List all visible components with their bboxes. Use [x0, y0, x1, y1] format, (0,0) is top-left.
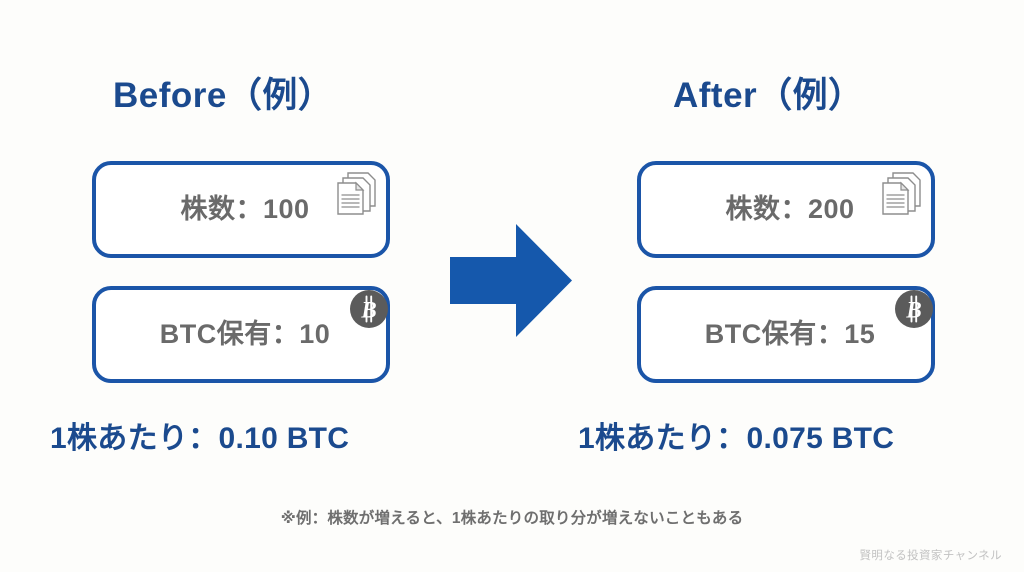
per-share-before: 1株あたり：0.10 BTC	[50, 424, 349, 454]
card-shares-after-label: 株数：200	[725, 196, 854, 223]
card-btc-after: BTC保有：15 B	[637, 286, 935, 383]
documents-stack-icon	[879, 171, 923, 217]
slide-canvas: Before（例） 株数：100 BTC保有：10	[0, 0, 1024, 572]
channel-watermark: 賢明なる投資家チャンネル	[860, 551, 1002, 563]
card-shares-before: 株数：100	[92, 161, 390, 258]
footnote-text: ※例：株数が増えると、1株あたりの取り分が増えないこともある	[0, 511, 1024, 527]
column-heading-before: Before（例）	[113, 78, 333, 113]
bitcoin-coin-icon: B	[893, 288, 935, 330]
card-btc-before: BTC保有：10 B	[92, 286, 390, 383]
bitcoin-coin-icon: B	[348, 288, 390, 330]
svg-text:B: B	[360, 298, 376, 323]
card-btc-after-label: BTC保有：15	[705, 321, 876, 348]
card-shares-after: 株数：200	[637, 161, 935, 258]
documents-stack-icon	[334, 171, 378, 217]
card-btc-before-label: BTC保有：10	[160, 321, 331, 348]
svg-text:B: B	[905, 298, 921, 323]
card-shares-before-label: 株数：100	[180, 196, 309, 223]
arrow-right-icon	[450, 224, 572, 337]
column-heading-after: After（例）	[673, 78, 864, 113]
per-share-after: 1株あたり：0.075 BTC	[578, 424, 894, 454]
